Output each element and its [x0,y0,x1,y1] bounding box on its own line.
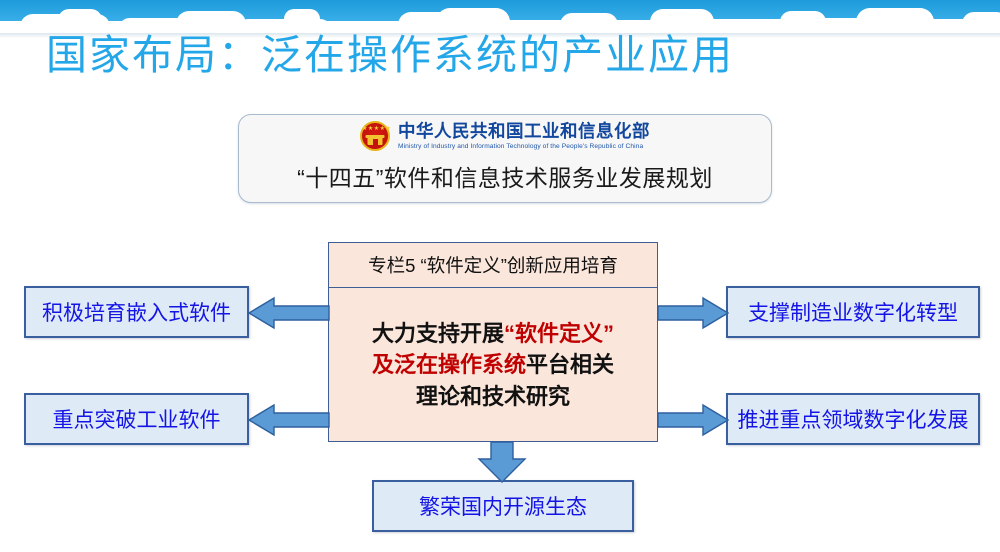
box-support-manufacturing-digital-transformation[interactable]: 支撑制造业数字化转型 [726,286,980,338]
arrow-left-top-icon [248,296,330,330]
page-title: 国家布局：泛在操作系统的产业应用 [46,31,734,79]
center-policy-box: 专栏5 “软件定义”创新应用培育 大力支持开展“软件定义” 及泛在操作系统平台相… [328,242,658,442]
center-box-body: 大力支持开展“软件定义” 及泛在操作系统平台相关 理论和技术研究 [329,288,657,442]
arrow-left-bottom-icon [248,403,330,437]
cloud-shape [962,12,1000,34]
center-body-line2-b: 平台相关 [526,352,614,377]
ministry-brand-row: ★★★★★ 中华人民共和国工业和信息化部 Ministry of Industr… [239,121,771,151]
emblem-gate [368,137,383,145]
emblem-stars: ★★★★★ [362,126,388,132]
ministry-names: 中华人民共和国工业和信息化部 Ministry of Industry and … [398,122,650,151]
plan-title: “十四五”软件和信息技术服务业发展规划 [239,159,771,193]
arrow-right-bottom-icon [657,403,729,437]
ministry-name-cn: 中华人民共和国工业和信息化部 [398,122,650,141]
ministry-header-card: ★★★★★ 中华人民共和国工业和信息化部 Ministry of Industr… [238,114,772,203]
center-box-header: 专栏5 “软件定义”创新应用培育 [329,243,657,288]
ministry-name-en: Ministry of Industry and Information Tec… [398,142,650,151]
cloud-shape [284,9,320,29]
center-body-line1-a: 大力支持开展 [372,321,504,346]
box-breakthrough-industrial-software[interactable]: 重点突破工业软件 [24,393,249,445]
cloud-shape [58,9,102,31]
center-body-line2-a: 及泛在操作系统 [372,352,526,377]
center-body-line3: 理论和技术研究 [416,384,570,409]
arrow-right-top-icon [657,296,729,330]
box-advance-key-domain-digital-development[interactable]: 推进重点领域数字化发展 [726,393,980,445]
slide-canvas: 国家布局：泛在操作系统的产业应用 ★★★★★ 中华人民共和国工业和信息化部 Mi… [0,0,1000,552]
center-body-line1-b: “软件定义” [504,321,614,346]
box-prosper-domestic-open-source-ecosystem[interactable]: 繁荣国内开源生态 [372,480,634,532]
china-national-emblem-icon: ★★★★★ [360,121,390,151]
box-cultivate-embedded-software[interactable]: 积极培育嵌入式软件 [24,286,249,338]
arrow-down-icon [473,441,531,483]
cloud-banner [0,0,1000,34]
